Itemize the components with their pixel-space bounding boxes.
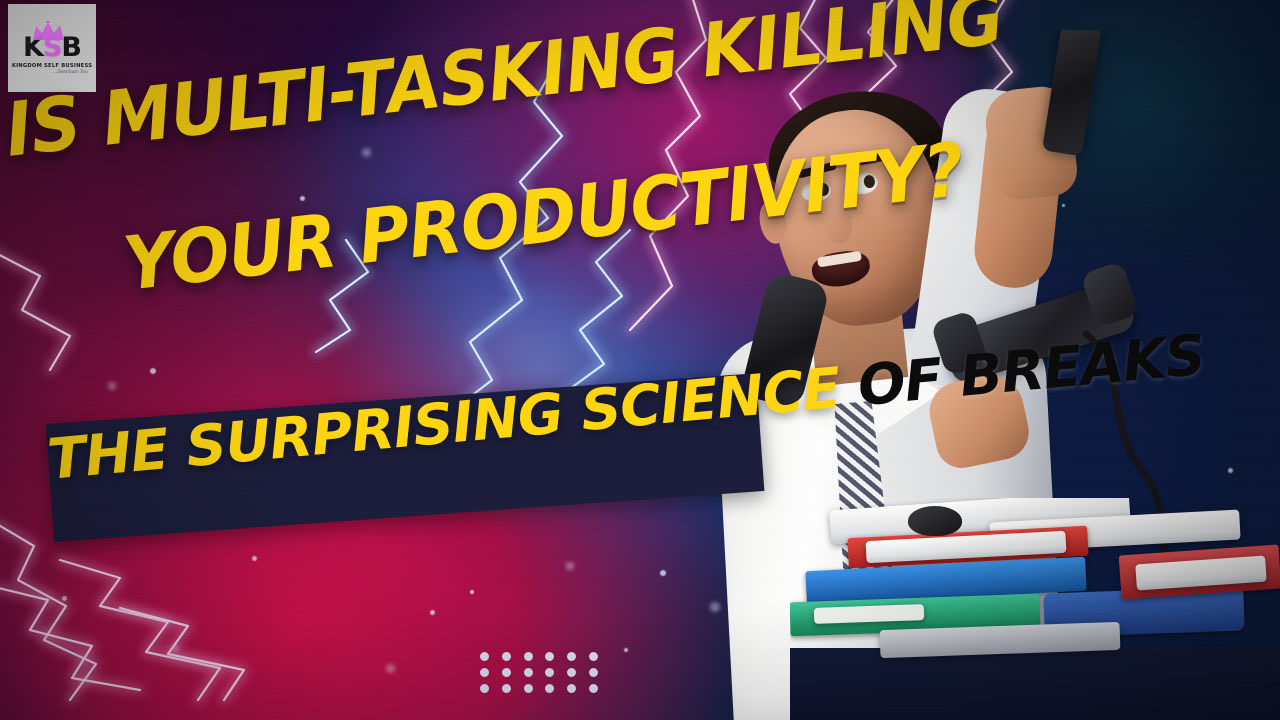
crown-icon — [31, 21, 73, 41]
vignette-overlay — [0, 0, 1280, 720]
video-thumbnail: KSB KINGDOM SELF BUSINESS ...Dominate Yo… — [0, 0, 1280, 720]
